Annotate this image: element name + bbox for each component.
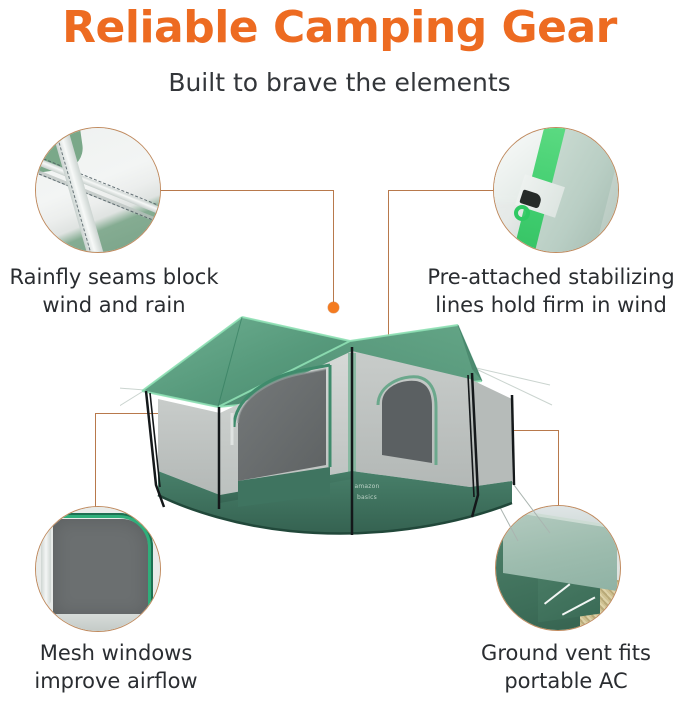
rainfly-seam-closeup-image	[36, 128, 160, 252]
connector-line-rainfly-vertical	[333, 190, 334, 308]
caption-ground-vent: Ground vent fits portable AC	[450, 640, 679, 695]
connector-line-mesh-vertical	[95, 413, 96, 513]
page-title: Reliable Camping Gear	[0, 2, 679, 53]
infographic-canvas: Reliable Camping Gear Built to brave the…	[0, 0, 679, 706]
page-subtitle: Built to brave the elements	[0, 68, 679, 97]
tent-illustration: amazon basics	[120, 295, 560, 555]
zoom-circle-rainfly-seams[interactable]	[35, 127, 161, 253]
connector-line-stabilizing-horizontal	[388, 190, 495, 191]
brand-logo: amazon basics	[344, 481, 390, 492]
zoom-circle-stabilizing-lines[interactable]	[493, 127, 619, 253]
caption-stabilizing-lines: Pre-attached stabilizing lines hold firm…	[420, 264, 679, 319]
connector-line-rainfly-horizontal	[158, 190, 333, 191]
guy-line-corner-closeup-image	[494, 128, 618, 252]
caption-mesh-windows: Mesh windows improve airflow	[0, 640, 234, 695]
caption-rainfly-seams: Rainfly seams block wind and rain	[0, 264, 234, 319]
